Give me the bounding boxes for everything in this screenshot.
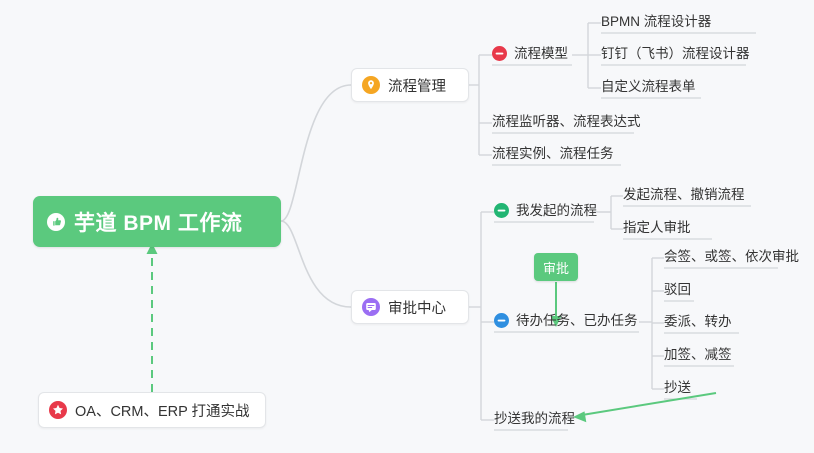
- mindmap-canvas: 芋道 BPM 工作流 流程管理 流程模型 BPMN 流程设计器 钉钉（飞书）流程…: [0, 0, 814, 453]
- thumbs-up-icon: [47, 213, 65, 231]
- root-label: 芋道 BPM 工作流: [74, 207, 242, 237]
- floating-node-integration[interactable]: OA、CRM、ERP 打通实战: [38, 392, 266, 428]
- floating-node-approval-pill[interactable]: 审批: [534, 253, 578, 281]
- node-assign-approver[interactable]: 指定人审批: [623, 219, 691, 239]
- node-label: 指定人审批: [623, 219, 691, 236]
- node-add-remove-sign[interactable]: 加签、减签: [664, 346, 732, 366]
- node-label: 待办任务、已办任务: [516, 312, 638, 329]
- branch-node-process-management[interactable]: 流程管理: [351, 68, 469, 102]
- pill-label: 审批: [543, 258, 569, 277]
- node-dingtalk-feishu-designer[interactable]: 钉钉（飞书）流程设计器: [601, 45, 750, 65]
- root-node[interactable]: 芋道 BPM 工作流: [33, 196, 281, 247]
- node-start-cancel-process[interactable]: 发起流程、撤销流程: [623, 186, 745, 206]
- node-reject[interactable]: 驳回: [664, 281, 691, 301]
- node-label: 驳回: [664, 281, 691, 298]
- node-label: 委派、转办: [664, 313, 732, 330]
- node-label: 会签、或签、依次审批: [664, 248, 799, 265]
- minus-circle-icon-blue: [494, 313, 509, 328]
- node-label: 流程实例、流程任务: [492, 145, 614, 162]
- node-bpmn-designer[interactable]: BPMN 流程设计器: [601, 13, 711, 33]
- node-label: 流程模型: [514, 45, 568, 62]
- node-label: 抄送: [664, 379, 691, 396]
- node-countersign[interactable]: 会签、或签、依次审批: [664, 248, 799, 268]
- node-label: 抄送我的流程: [494, 410, 575, 427]
- node-instance-task[interactable]: 流程实例、流程任务: [492, 145, 614, 165]
- message-circle-icon: [362, 298, 380, 316]
- node-process-model[interactable]: 流程模型: [492, 45, 568, 65]
- node-delegate-transfer[interactable]: 委派、转办: [664, 313, 732, 333]
- node-label: 我发起的流程: [516, 202, 597, 219]
- branch-label: 流程管理: [388, 75, 446, 96]
- node-custom-process-form[interactable]: 自定义流程表单: [601, 78, 696, 98]
- location-pin-icon: [362, 76, 380, 94]
- minus-circle-icon-green: [494, 203, 509, 218]
- branch-node-approval-center[interactable]: 审批中心: [351, 290, 469, 324]
- node-label: OA、CRM、ERP 打通实战: [75, 400, 250, 421]
- minus-circle-icon-red: [492, 46, 507, 61]
- node-label: 自定义流程表单: [601, 78, 696, 95]
- branch-label: 审批中心: [388, 297, 446, 318]
- node-label: 加签、减签: [664, 346, 732, 363]
- node-my-initiated-process[interactable]: 我发起的流程: [494, 202, 597, 222]
- node-listener-expression[interactable]: 流程监听器、流程表达式: [492, 113, 641, 133]
- node-cc-to-me-process[interactable]: 抄送我的流程: [494, 410, 575, 430]
- node-label: BPMN 流程设计器: [601, 13, 711, 30]
- node-label: 发起流程、撤销流程: [623, 186, 745, 203]
- node-todo-done-tasks[interactable]: 待办任务、已办任务: [494, 312, 638, 332]
- node-label: 钉钉（飞书）流程设计器: [601, 45, 750, 62]
- node-cc[interactable]: 抄送: [664, 379, 691, 399]
- star-circle-icon: [49, 401, 67, 419]
- node-label: 流程监听器、流程表达式: [492, 113, 641, 130]
